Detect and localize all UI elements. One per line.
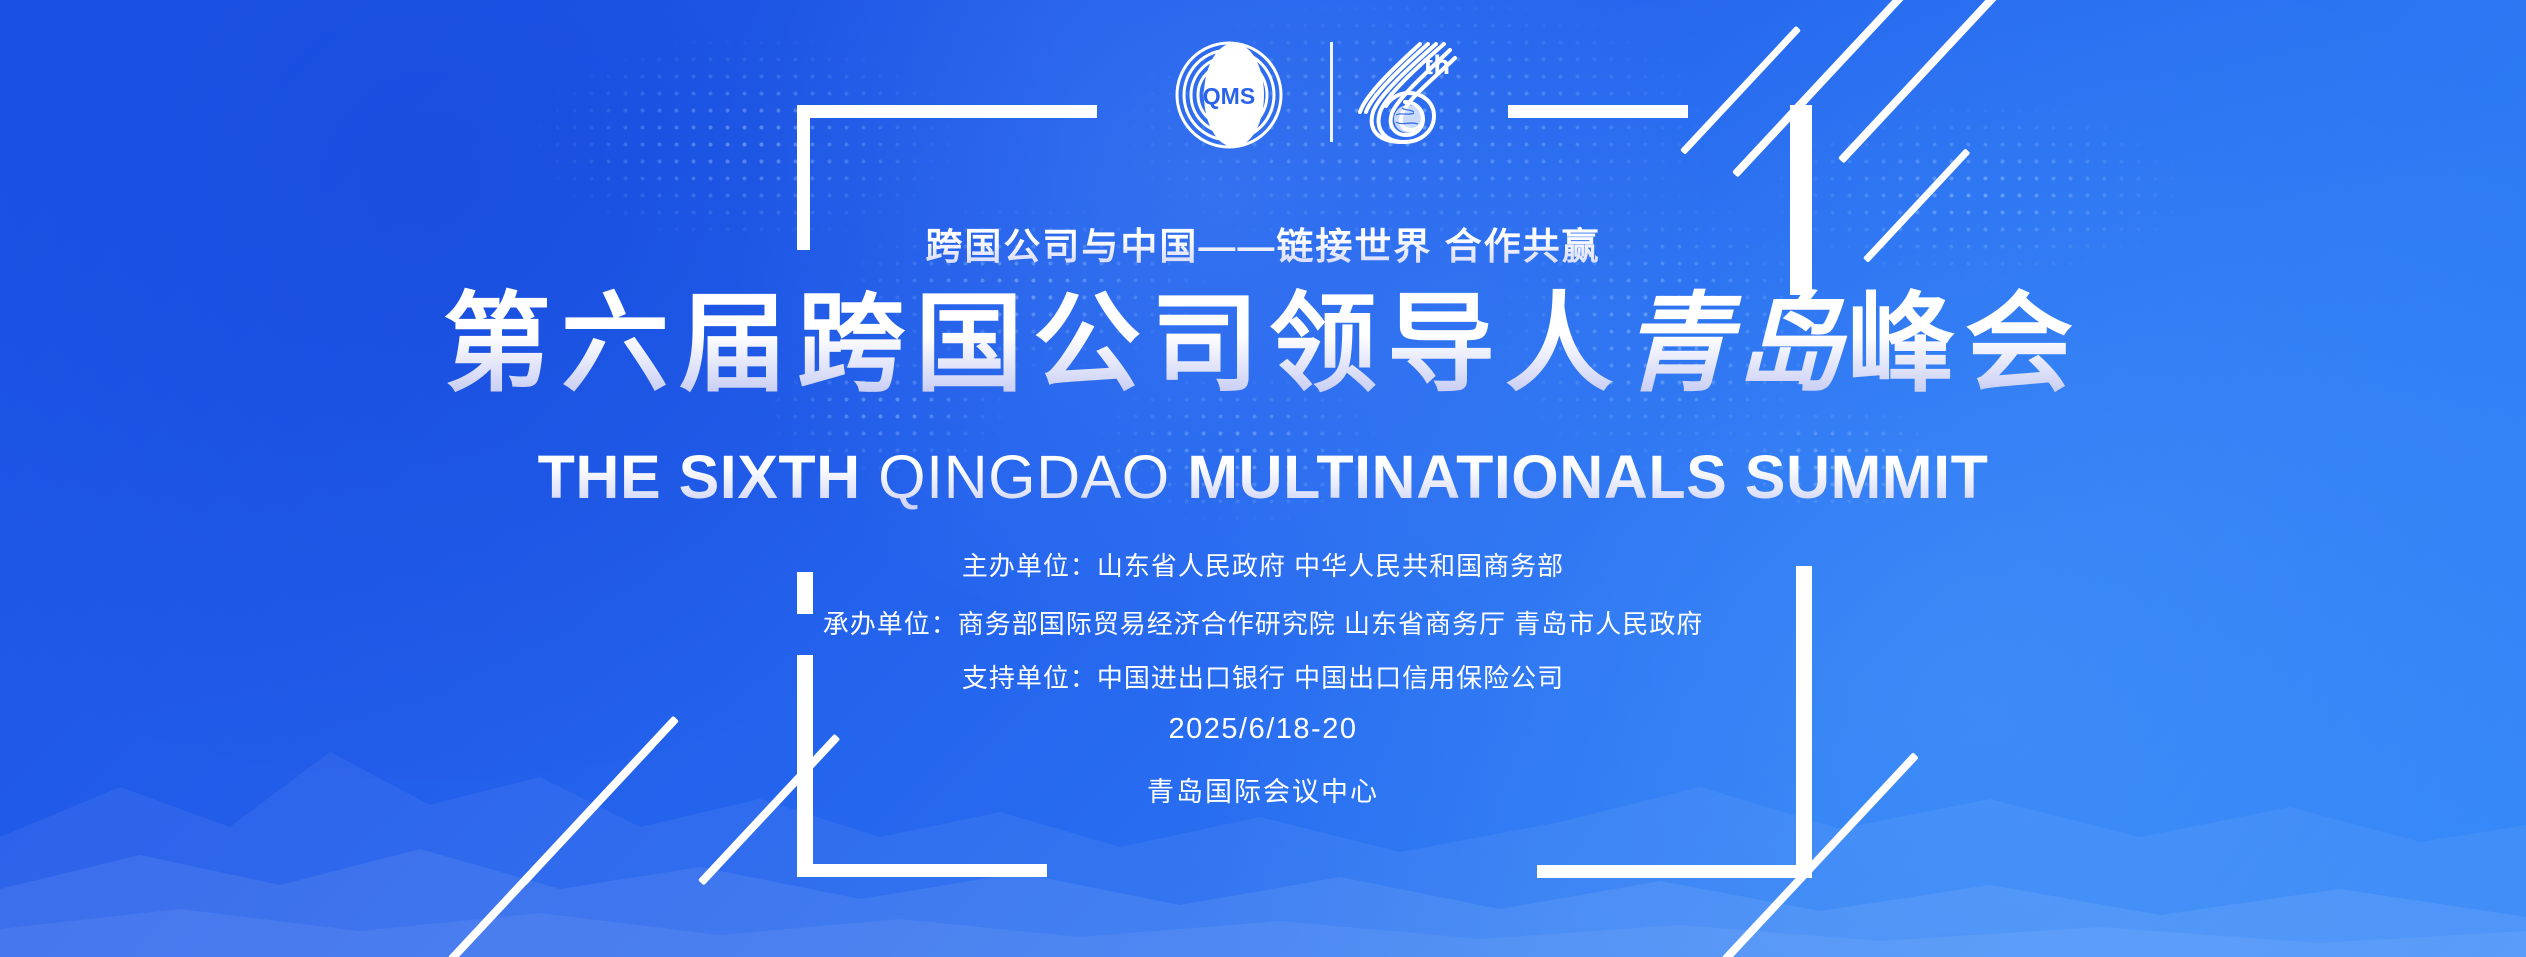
organizer-line-host: 主办单位：山东省人民政府 中华人民共和国商务部 [0,546,2526,583]
main-title-part-before: 第六届跨国公司领导人 [443,283,1623,404]
english-title-lead: THE SIXTH [538,443,879,511]
english-title-tail: MULTINATIONALS SUMMIT [1170,443,1989,511]
mountain-silhouette-decoration [0,537,2526,957]
poster-subtitle: 跨国公司与中国——链接世界 合作共赢 [0,216,2526,270]
summit-poster: QMS th 跨国公司与中国——链接世界 合作共赢 第六届跨国公司领导人青岛峰会… [0,0,2526,957]
poster-english-title: THE SIXTH QINGDAO MULTINATIONALS SUMMIT [0,442,2526,512]
organizer-line-undertaker: 承办单位：商务部国际贸易经济合作研究院 山东省商务厅 青岛市人民政府 [0,604,2526,641]
logo-divider [1330,42,1333,142]
organizer-line-supporter: 支持单位：中国进出口银行 中国出口信用保险公司 [0,658,2526,695]
event-date: 2025/6/18-20 [0,713,2526,746]
edition-number-6 [1352,36,1482,146]
edition-suffix-th: th [1424,50,1450,81]
qms-logo-mark-text: QMS [1203,83,1255,109]
main-title-part-brush: 青岛 [1623,281,1847,407]
main-title-part-after: 峰会 [1847,283,2083,404]
frame-bracket-top-right [1508,105,1688,118]
event-venue: 青岛国际会议中心 [0,770,2526,809]
poster-main-title: 第六届跨国公司领导人青岛峰会 [0,286,2526,403]
english-title-qingdao: QINGDAO [878,443,1170,511]
